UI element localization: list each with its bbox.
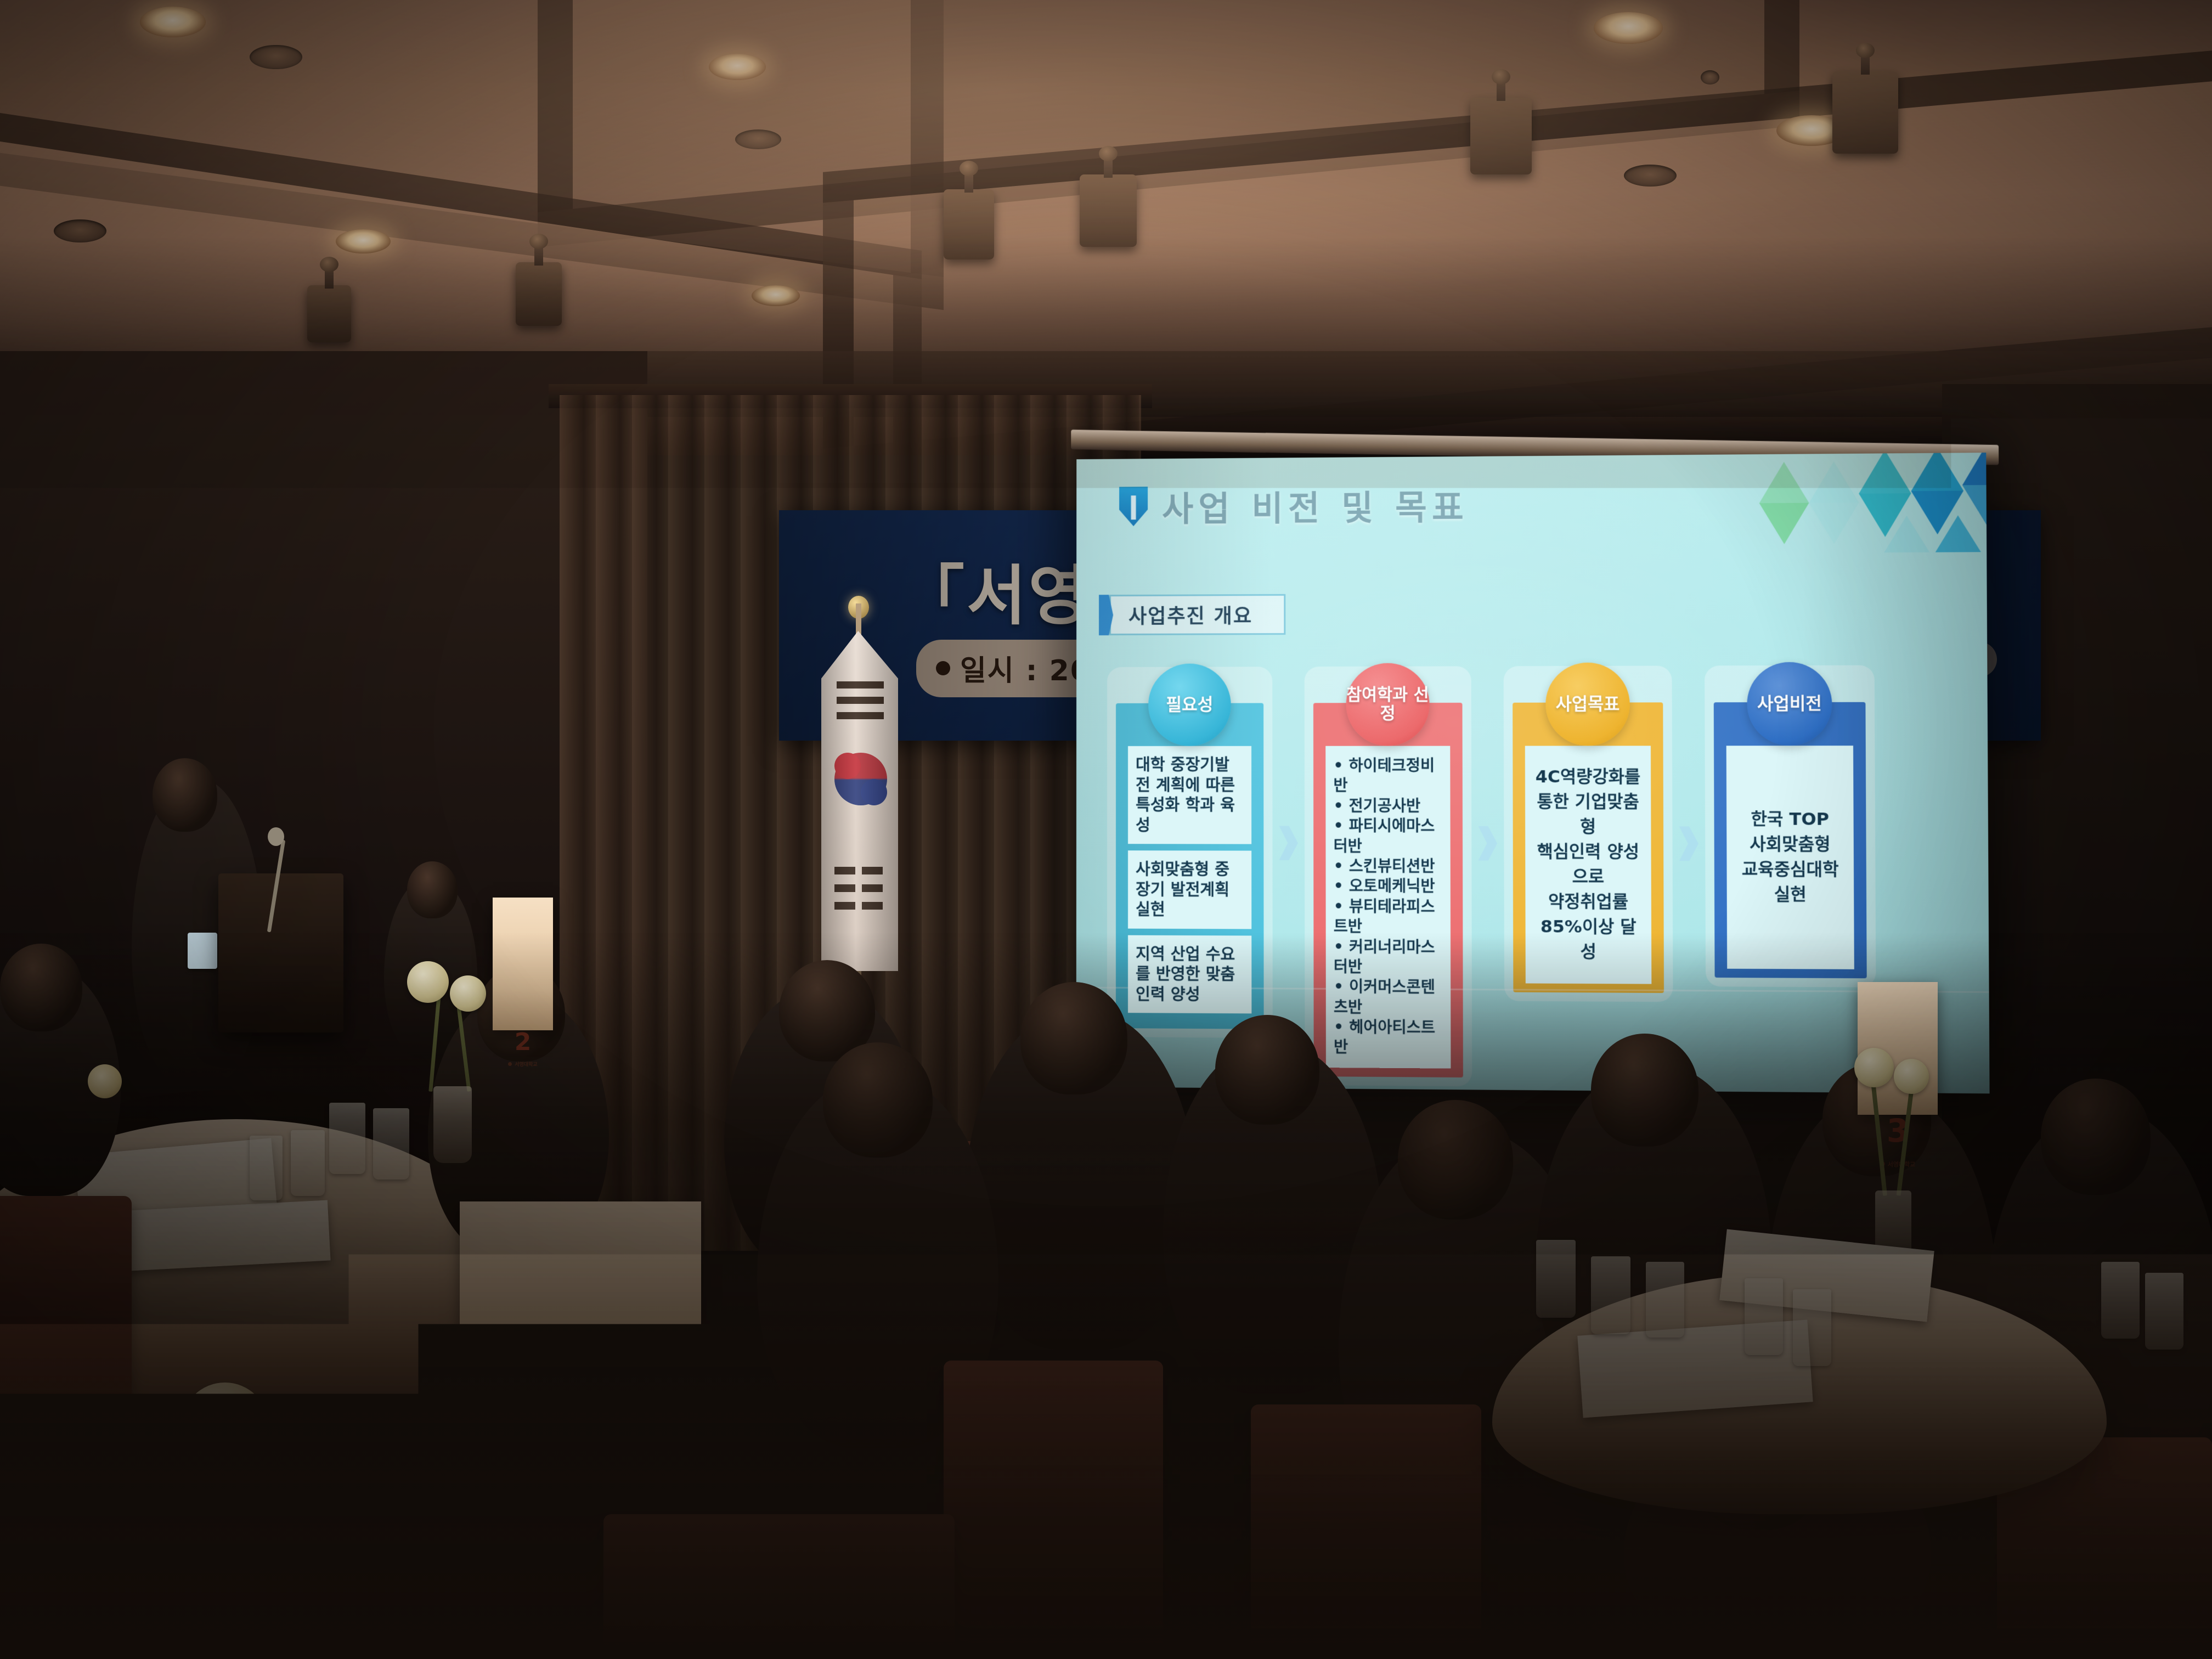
flow-card-body: 대학 중장기발전 계획에 따른 특성화 학과 육성 사회맞춤형 중장기 발전계획… bbox=[1116, 703, 1264, 1030]
flow-list-item: • 이커머스콘텐츠반 bbox=[1334, 977, 1443, 1018]
flower-bloom bbox=[104, 1415, 187, 1498]
university-logo: 서영대학교 bbox=[1880, 1160, 1916, 1169]
triangle-shape bbox=[1809, 461, 1859, 503]
flow-list-item: • 전기공사반 bbox=[1334, 796, 1443, 816]
podium bbox=[218, 873, 343, 1032]
flow-list-item: • 헤어아티스트반 bbox=[1334, 1017, 1443, 1058]
microphone-head bbox=[268, 827, 284, 846]
water-glass bbox=[291, 1130, 325, 1196]
flow-center-line: 통한 기업맞춤형 bbox=[1533, 789, 1643, 839]
seated-attendee-head bbox=[1398, 1100, 1513, 1220]
water-glass bbox=[1646, 1262, 1684, 1338]
flow-card-cells: 대학 중장기발전 계획에 따른 특성화 학과 육성 사회맞춤형 중장기 발전계획… bbox=[1122, 746, 1257, 1014]
triangle-shape bbox=[1759, 462, 1809, 504]
water-glass bbox=[1536, 1240, 1576, 1318]
banquet-chair bbox=[1251, 1404, 1481, 1659]
flow-cell: 사회맞춤형 중장기 발전계획 실현 bbox=[1128, 850, 1251, 929]
flower-bloom bbox=[181, 1383, 269, 1470]
flow-chevron-2 bbox=[1471, 826, 1504, 861]
flow-card-vision: 사업비전 한국 TOP 사회맞춤형 교육중심대학 실현 bbox=[1705, 665, 1876, 988]
banquet-table bbox=[0, 1580, 461, 1659]
flow-center-line: 85%이상 달성 bbox=[1533, 915, 1644, 965]
presenter-head bbox=[153, 758, 217, 832]
chevron-right-icon bbox=[1679, 826, 1699, 861]
water-glass bbox=[1591, 1256, 1630, 1334]
flower-bloom bbox=[258, 1415, 340, 1498]
triangle-shape bbox=[1911, 453, 1963, 491]
university-logo-text: 서영대학교 bbox=[557, 1469, 617, 1488]
chevron-right-icon bbox=[1478, 826, 1497, 861]
triangle-shape bbox=[1935, 515, 1980, 552]
logo-dot-icon bbox=[508, 1062, 512, 1066]
flow-list-item: • 하이테크정비반 bbox=[1333, 756, 1442, 796]
flow-cell-center: 한국 TOP 사회맞춤형 교육중심대학 실현 bbox=[1726, 746, 1854, 969]
banquet-chair bbox=[603, 1514, 955, 1659]
flower-bloom bbox=[1894, 1059, 1929, 1094]
flow-list-item: • 오토메케닉반 bbox=[1334, 877, 1443, 897]
flow-card-need: 필요성 대학 중장기발전 계획에 따른 특성화 학과 육성 사회맞춤형 중장기 … bbox=[1107, 667, 1273, 1038]
triangle-shape bbox=[1759, 503, 1809, 545]
flow-center-line: 사회맞춤형 bbox=[1735, 832, 1846, 857]
flow-center-line: 4C역량강화를 bbox=[1533, 765, 1643, 790]
seated-attendee-head bbox=[1020, 982, 1127, 1094]
flower-bloom bbox=[450, 975, 486, 1012]
seated-attendee-head bbox=[2041, 1079, 2151, 1195]
placard-stand bbox=[574, 1404, 584, 1481]
presentation-slide: 사업 비전 및 목표 사업추진 개요 필요성 대학 중장기발전 계획에 따른 특… bbox=[1076, 453, 1990, 1093]
flow-card-body: • 하이테크정비반 • 전기공사반 • 파티시에마스터반 • 스킨뷰티션반 • … bbox=[1313, 703, 1463, 1077]
flow-card-cells: • 하이테크정비반 • 전기공사반 • 파티시에마스터반 • 스킨뷰티션반 • … bbox=[1320, 746, 1457, 1069]
water-glass bbox=[1793, 1289, 1831, 1366]
projection-screen: 사업 비전 및 목표 사업추진 개요 필요성 대학 중장기발전 계획에 따른 특… bbox=[1076, 453, 1990, 1093]
flow-list-item: • 커리너리마스터반 bbox=[1334, 937, 1443, 978]
flow-card-departments: 참여학과 선정 • 하이테크정비반 • 전기공사반 • 파티시에마스터반 • 스… bbox=[1305, 666, 1472, 1086]
table-placard-6: 6 서영대학교 bbox=[460, 1201, 701, 1410]
flow-card-cells: 4C역량강화를 통한 기업맞춤형 핵심인력 양성으로 약정취업률 85%이상 달… bbox=[1520, 746, 1657, 984]
flow-list-item: • 스킨뷰티션반 bbox=[1334, 856, 1443, 877]
flow-center-line: 실현 bbox=[1735, 882, 1846, 907]
seated-attendee-head bbox=[0, 944, 82, 1031]
university-logo: 서영대학교 bbox=[508, 1060, 537, 1068]
flow-center-line: 약정취업률 bbox=[1533, 889, 1644, 915]
triangle-shape bbox=[1859, 453, 1911, 494]
flow-list-item: • 파티시에마스터반 bbox=[1334, 816, 1443, 857]
triangle-mosaic-decoration bbox=[1742, 453, 1987, 593]
water-glass bbox=[2145, 1273, 2183, 1350]
process-flow: 필요성 대학 중장기발전 계획에 따른 특성화 학과 육성 사회맞춤형 중장기 … bbox=[1107, 665, 1960, 1001]
section-tag: 사업추진 개요 bbox=[1109, 594, 1285, 635]
south-korea-flag bbox=[821, 631, 898, 971]
flow-card-badge: 사업목표 bbox=[1545, 663, 1630, 746]
seated-attendee-head bbox=[1215, 1015, 1319, 1125]
triangle-shape bbox=[1962, 453, 1987, 485]
flow-cell-center: 4C역량강화를 통한 기업맞춤형 핵심인력 양성으로 약정취업률 85%이상 달… bbox=[1525, 746, 1652, 984]
flow-center-line: 한국 TOP bbox=[1735, 807, 1846, 832]
table-number: 2 bbox=[515, 1030, 532, 1054]
flow-card-body: 4C역량강화를 통한 기업맞춤형 핵심인력 양성으로 약정취업률 85%이상 달… bbox=[1513, 702, 1664, 992]
water-glass bbox=[373, 1108, 409, 1180]
triangle-shape bbox=[1809, 503, 1859, 544]
water-glass bbox=[1745, 1278, 1783, 1355]
water-glass bbox=[329, 1103, 365, 1174]
logo-dot-icon bbox=[544, 1474, 554, 1484]
presenter-name-badge bbox=[188, 933, 217, 969]
table-placard-2: 2 서영대학교 bbox=[493, 898, 553, 1030]
flow-center-line: 핵심인력 양성으로 bbox=[1533, 839, 1643, 889]
banquet-chair bbox=[944, 1361, 1163, 1659]
screen-surface: 사업 비전 및 목표 사업추진 개요 필요성 대학 중장기발전 계획에 따른 특… bbox=[1076, 453, 1990, 1093]
seated-attendee-head bbox=[823, 1042, 933, 1158]
flow-card-cells: 한국 TOP 사회맞춤형 교육중심대학 실현 bbox=[1720, 746, 1860, 969]
banquet-chair bbox=[0, 1196, 132, 1404]
flow-card-badge: 참여학과 선정 bbox=[1346, 663, 1429, 746]
chevron-right-icon bbox=[1279, 826, 1298, 860]
slide-title: 사업 비전 및 목표 bbox=[1162, 479, 1469, 531]
flow-cell-list: • 하이테크정비반 • 전기공사반 • 파티시에마스터반 • 스킨뷰티션반 • … bbox=[1325, 746, 1451, 1069]
seated-attendee-head bbox=[1591, 1034, 1699, 1147]
flow-chevron-1 bbox=[1272, 826, 1305, 860]
bullet-dot-icon bbox=[936, 661, 950, 675]
slide-title-row: 사업 비전 및 목표 bbox=[1119, 479, 1469, 531]
flow-card-badge: 사업비전 bbox=[1747, 662, 1832, 746]
flow-card-badge: 필요성 bbox=[1148, 663, 1231, 746]
flower-vase bbox=[433, 1086, 472, 1163]
university-logo-text: 서영대학교 bbox=[515, 1060, 537, 1068]
water-glass bbox=[2101, 1262, 2140, 1339]
triangle-shape bbox=[1884, 516, 1929, 553]
flow-chevron-3 bbox=[1672, 826, 1705, 861]
flower-bloom bbox=[407, 961, 449, 1003]
flower-bloom bbox=[1854, 1048, 1894, 1087]
flower-bloom bbox=[340, 1459, 411, 1531]
water-glass bbox=[250, 1136, 283, 1200]
conference-photo-scene: 「서영대학 숍」 일시 : 2019년 12월 주관기관 bbox=[0, 0, 2212, 1659]
flow-cell: 지역 산업 수요를 반영한 맞춤 인력 양성 bbox=[1128, 935, 1251, 1013]
flow-card-goal: 사업목표 4C역량강화를 통한 기업맞춤형 핵심인력 양성으로 약정취업률 85… bbox=[1504, 665, 1673, 1001]
flag-shading bbox=[821, 631, 898, 971]
flow-list-item: • 뷰티테라피스트반 bbox=[1334, 896, 1443, 937]
corsage bbox=[88, 1064, 122, 1098]
section-tag-label: 사업추진 개요 bbox=[1128, 600, 1252, 629]
standing-attendee-head bbox=[407, 861, 458, 918]
flow-center-line: 교육중심대학 bbox=[1735, 857, 1846, 882]
flow-cell: 대학 중장기발전 계획에 따른 특성화 학과 육성 bbox=[1128, 746, 1251, 844]
pennant-triangle-icon bbox=[1119, 487, 1148, 526]
